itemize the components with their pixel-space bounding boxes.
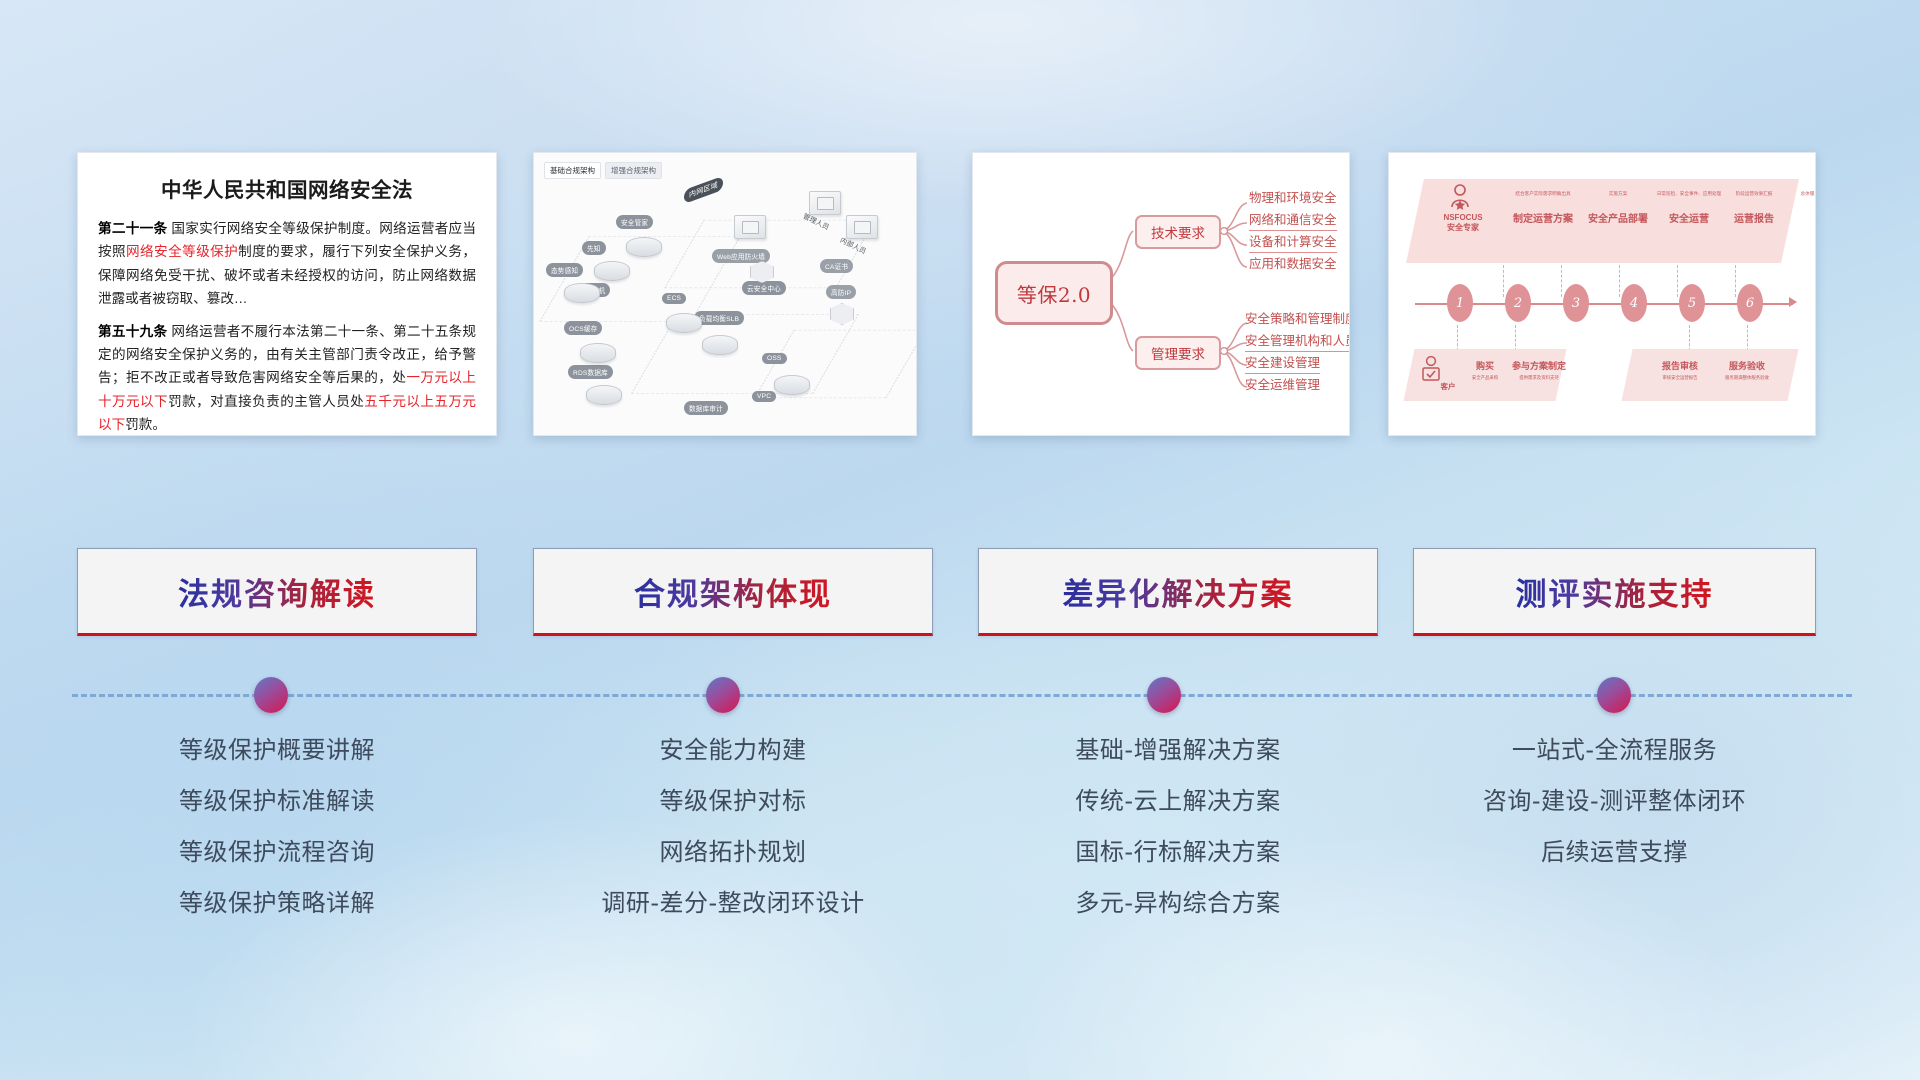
slide-stage: 中华人民共和国网络安全法 第二十一条 国家实行网络安全等级保护制度。网络运营者应…	[0, 0, 1920, 1080]
mindmap-leaf-construction-mgmt: 安全建设管理	[1245, 352, 1320, 374]
tick-up-1	[1503, 265, 1505, 297]
step-circle-1[interactable]: 1	[1447, 284, 1473, 322]
card-mindmap-dengbao[interactable]: 等保2.0 技术要求 管理要求 物理和环境安全 网络和通信安全 设备和计算安全 …	[972, 152, 1350, 436]
law-title: 中华人民共和国网络安全法	[98, 173, 476, 203]
step-circle-5[interactable]: 5	[1679, 284, 1705, 322]
pill-security-butler: 安全管家	[616, 215, 653, 229]
mindmap-leaf-policy-system: 安全策略和管理制度	[1245, 308, 1350, 329]
law-article-21: 第二十一条 国家实行网络安全等级保护制度。网络运营者应当按照网络安全等级保护制度…	[98, 217, 476, 311]
pill-rds-database: RDS数据库	[568, 365, 613, 379]
expert-person-icon	[1445, 183, 1475, 211]
phase-2-tiny: 实施方案	[1581, 191, 1655, 196]
bottom-label-plan-participation: 参与方案制定 提供需求及资料支持	[1499, 359, 1579, 381]
phase-col-2: 实施方案 安全产品部署	[1581, 191, 1655, 225]
pill-cloud-security-center: 云安全中心	[742, 281, 786, 295]
headline-box-assessment-support[interactable]: 测评实施支持	[1413, 548, 1816, 636]
bottom-label-report-title: 报告审核	[1647, 359, 1713, 372]
disk-ocs	[580, 343, 616, 363]
bottom-label-service-title: 服务验收	[1711, 359, 1783, 372]
detail-lists-row: 等级保护概要讲解 等级保护标准解读 等级保护流程咨询 等级保护策略详解 安全能力…	[0, 738, 1920, 978]
pill-ecs: ECS	[662, 293, 686, 304]
bottom-label-plan-title: 参与方案制定	[1499, 359, 1579, 372]
mindmap-leaf-device-compute: 设备和计算安全	[1249, 231, 1337, 253]
nsfocus-timeline: NSFOCUS安全专家 结合客户实际需求明确出具 制定运营方案 实施方案 安全产…	[1389, 153, 1815, 435]
list-item: 多元-异构综合方案	[978, 891, 1378, 915]
list-item: 等级保护标准解读	[77, 789, 477, 813]
phase-1-main: 制定运营方案	[1501, 210, 1585, 225]
mindmap: 等保2.0 技术要求 管理要求 物理和环境安全 网络和通信安全 设备和计算安全 …	[973, 153, 1349, 435]
mindmap-leaf-ops-mgmt: 安全运维管理	[1245, 374, 1320, 395]
list-item: 咨询-建设-测评整体闭环	[1413, 789, 1816, 813]
tick-up-3	[1619, 265, 1621, 297]
node-external-user	[734, 215, 766, 239]
architecture-tabs: 基础合规架构 增强合规架构	[544, 162, 662, 179]
pill-xianzhi: 先知	[582, 241, 606, 255]
list-item: 等级保护对标	[533, 789, 933, 813]
law-article-59-middle: 罚款，对直接负责的主管人员处	[168, 394, 364, 409]
disk-ecs	[666, 313, 702, 333]
law-article-59-label: 第五十九条	[98, 324, 167, 339]
mindmap-leaf-network-comm: 网络和通信安全	[1249, 209, 1337, 231]
customer-person-icon	[1419, 355, 1443, 381]
disk-security-butler	[626, 237, 662, 257]
list-item: 等级保护流程咨询	[77, 840, 477, 864]
bottom-label-service-sub: 服务期满整体服务验收	[1711, 375, 1783, 381]
step-circle-4[interactable]: 4	[1621, 284, 1647, 322]
headline-label-2: 合规架构体现	[634, 569, 832, 614]
phase-4-main: 运营报告	[1717, 210, 1791, 225]
card-nsfocus-service-timeline[interactable]: NSFOCUS安全专家 结合客户实际需求明确出具 制定运营方案 实施方案 安全产…	[1388, 152, 1816, 436]
tab-enhanced-architecture[interactable]: 增强合规架构	[605, 162, 662, 179]
phase-col-1: 结合客户实际需求明确出具 制定运营方案	[1501, 191, 1585, 225]
preview-cards-row: 中华人民共和国网络安全法 第二十一条 国家实行网络安全等级保护制度。网络运营者应…	[0, 152, 1920, 442]
architecture-diagram: 基础合规架构 增强合规架构 内网区域 管理人员 内部人员 安全管家 先知	[534, 153, 916, 435]
tick-down-2	[1515, 325, 1517, 351]
phase-4-tiny: 阶段运营效果汇报	[1717, 191, 1791, 196]
list-item: 调研-差分-整改闭环设计	[533, 891, 933, 915]
pill-oss: OSS	[762, 353, 787, 364]
list-item: 安全能力构建	[533, 738, 933, 762]
bottom-label-report-review: 报告审核 审核安全运营报告	[1647, 359, 1713, 381]
detail-list-compliance-architecture: 安全能力构建 等级保护对标 网络拓扑规划 调研-差分-整改闭环设计	[533, 738, 933, 942]
node-management-user	[809, 191, 841, 215]
pill-ca-certificate: CA证书	[820, 259, 853, 273]
bottom-label-service-acceptance: 服务验收 服务期满整体服务验收	[1711, 359, 1783, 381]
customer-label-text: 客户	[1441, 382, 1456, 391]
timeline-dot-2[interactable]	[706, 677, 740, 713]
disk-oss	[774, 375, 810, 395]
tick-up-5	[1735, 265, 1737, 297]
tick-up-2	[1561, 265, 1563, 297]
disk-situational	[564, 283, 600, 303]
mindmap-leaf-app-data: 应用和数据安全	[1249, 253, 1337, 274]
list-item: 等级保护策略详解	[77, 891, 477, 915]
timeline-dot-3[interactable]	[1147, 677, 1181, 713]
headline-label-1: 法规咨询解读	[178, 569, 376, 614]
mindmap-branch-technical[interactable]: 技术要求	[1135, 215, 1221, 249]
list-item: 传统-云上解决方案	[978, 789, 1378, 813]
phase-col-4: 阶段运营效果汇报 运营报告	[1717, 191, 1791, 225]
bottom-label-report-sub: 审核安全运营报告	[1647, 375, 1713, 381]
pill-ocs-cache: OCS缓存	[564, 321, 602, 335]
list-item: 网络拓扑规划	[533, 840, 933, 864]
law-article-59: 第五十九条 网络运营者不履行本法第二十一条、第二十五条规定的网络安全保护义务的，…	[98, 320, 476, 437]
headline-box-compliance-architecture[interactable]: 合规架构体现	[533, 548, 933, 636]
phase-2-main: 安全产品部署	[1581, 210, 1655, 225]
process-timeline-line	[72, 694, 1852, 699]
nsfocus-expert-label: NSFOCUS安全专家	[1431, 213, 1495, 233]
step-circle-2[interactable]: 2	[1505, 284, 1531, 322]
card-compliance-architecture[interactable]: 基础合规架构 增强合规架构 内网区域 管理人员 内部人员 安全管家 先知	[533, 152, 917, 436]
mindmap-leaf-org-personnel: 安全管理机构和人员	[1245, 330, 1350, 352]
customer-label: 客户	[1425, 381, 1471, 392]
disk-rds	[586, 385, 622, 405]
tab-basic-architecture[interactable]: 基础合规架构	[544, 162, 601, 179]
tick-down-3	[1689, 325, 1691, 351]
list-item: 后续运营支撑	[1413, 840, 1816, 864]
bottom-label-plan-sub: 提供需求及资料支持	[1499, 375, 1579, 381]
headline-label-4: 测评实施支持	[1516, 569, 1714, 614]
tick-down-1	[1457, 325, 1459, 351]
node-internal-user	[846, 215, 878, 239]
pill-situational-awareness: 态势感知	[546, 263, 583, 277]
law-text-body: 中华人民共和国网络安全法 第二十一条 国家实行网络安全等级保护制度。网络运营者应…	[78, 153, 496, 435]
step-circle-3[interactable]: 3	[1563, 284, 1589, 322]
tick-up-4	[1677, 265, 1679, 297]
tick-down-4	[1747, 325, 1749, 351]
headline-box-regulation-consulting[interactable]: 法规咨询解读	[77, 548, 477, 636]
pill-vpc: VPC	[752, 391, 776, 402]
timeline-dot-1[interactable]	[254, 677, 288, 713]
pill-web-application-firewall: Web应用防火墙	[712, 249, 770, 263]
headline-box-differentiated-solution[interactable]: 差异化解决方案	[978, 548, 1378, 636]
list-item: 等级保护概要讲解	[77, 738, 477, 762]
card-cybersecurity-law[interactable]: 中华人民共和国网络安全法 第二十一条 国家实行网络安全等级保护制度。网络运营者应…	[77, 152, 497, 436]
phase-1-tiny: 结合客户实际需求明确出具	[1501, 191, 1585, 196]
disk-slb	[702, 335, 738, 355]
pill-internal-zone: 内网区域	[684, 176, 723, 204]
detail-list-regulation-consulting: 等级保护概要讲解 等级保护标准解读 等级保护流程咨询 等级保护策略详解	[77, 738, 477, 942]
list-item: 国标-行标解决方案	[978, 840, 1378, 864]
headline-label-3: 差异化解决方案	[1063, 569, 1294, 614]
law-article-21-label: 第二十一条	[98, 221, 167, 236]
nsfocus-top-band-content: NSFOCUS安全专家 结合客户实际需求明确出具 制定运营方案 实施方案 安全产…	[1415, 179, 1790, 263]
pill-database-audit: 数据库审计	[684, 401, 728, 415]
law-article-59-suffix: 罚款。	[125, 417, 166, 432]
timeline-arrow-icon	[1789, 297, 1797, 307]
mindmap-leaf-physical-env: 物理和环境安全	[1249, 187, 1337, 208]
list-item: 基础-增强解决方案	[978, 738, 1378, 762]
law-article-21-highlight: 网络安全等级保护	[126, 244, 238, 259]
disk-xianzhi	[594, 261, 630, 281]
phase-5-tiny: 总体服务运营期满之总体运营效果	[1787, 191, 1816, 196]
timeline-dot-4[interactable]	[1597, 677, 1631, 713]
pill-anti-ddos-ip: 高防IP	[826, 285, 856, 299]
list-item: 一站式-全流程服务	[1413, 738, 1816, 762]
phase-5-main: 服务报告	[1787, 210, 1816, 225]
detail-list-differentiated-solution: 基础-增强解决方案 传统-云上解决方案 国标-行标解决方案 多元-异构综合方案	[978, 738, 1378, 942]
mindmap-root-node[interactable]: 等保2.0	[995, 261, 1113, 325]
mindmap-branch-management[interactable]: 管理要求	[1135, 336, 1221, 370]
detail-list-assessment-support: 一站式-全流程服务 咨询-建设-测评整体闭环 后续运营支撑	[1413, 738, 1816, 891]
step-circle-6[interactable]: 6	[1737, 284, 1763, 322]
phase-col-5: 总体服务运营期满之总体运营效果 服务报告	[1787, 191, 1816, 225]
headline-row: 法规咨询解读 合规架构体现 差异化解决方案 测评实施支持	[0, 548, 1920, 640]
